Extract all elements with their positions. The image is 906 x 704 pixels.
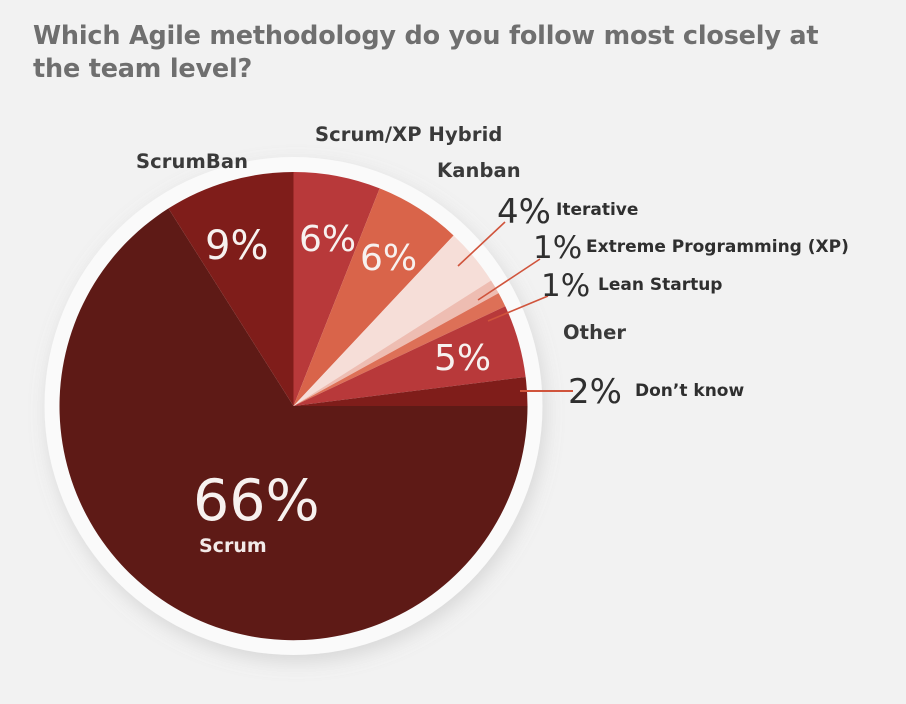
slice-label-kanban: Kanban (437, 159, 521, 182)
slice-label-extreme-programming: Extreme Programming (XP) (586, 237, 849, 257)
slice-label-scrumban: ScrumBan (136, 150, 248, 173)
slice-label-iterative: Iterative (556, 200, 638, 220)
slice-value-lean-startup: 1% (541, 268, 590, 304)
slice-value-iterative: 4% (497, 192, 551, 232)
slice-label-scrum-xp-hybrid: Scrum/XP Hybrid (315, 123, 502, 146)
chart-canvas: Which Agile methodology do you follow mo… (0, 0, 906, 704)
slice-label-scrum: Scrum (199, 535, 267, 557)
slice-value-extreme-programming: 1% (533, 230, 582, 266)
slice-label-lean-startup: Lean Startup (598, 275, 722, 295)
slice-value-dont-know: 2% (568, 372, 622, 412)
slice-label-other: Other (563, 321, 626, 344)
slice-value-other: 5% (434, 338, 491, 379)
pie-chart: 66% Scrum 9% 6% 6% 5% ScrumBan Scrum/XP … (0, 0, 906, 704)
slice-value-scrum-xp-hybrid: 6% (299, 219, 356, 260)
slice-value-kanban: 6% (360, 238, 417, 279)
slice-label-dont-know: Don’t know (635, 381, 744, 401)
slice-value-scrum: 66% (193, 468, 320, 534)
slice-value-scrumban: 9% (205, 223, 268, 269)
